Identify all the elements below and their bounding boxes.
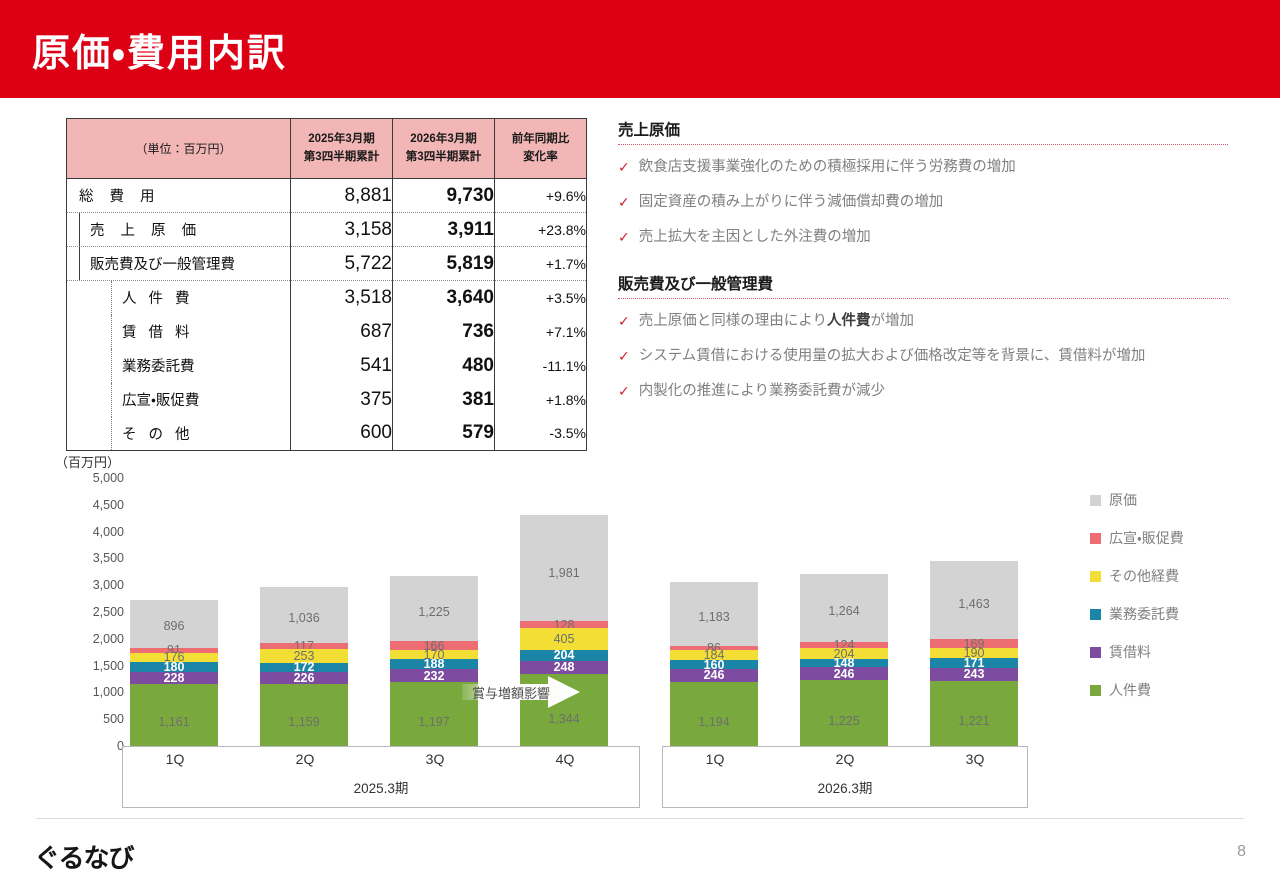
- bullet-text: 固定資産の積み上がりに伴う減価償却費の増加: [639, 192, 944, 213]
- x-axis-group-label: 2025.3期: [123, 777, 639, 797]
- table-row: 賃 借 料 687 736 +7.1%: [67, 315, 587, 349]
- table-row: 業務委託費 541 480 -11.1%: [67, 349, 587, 383]
- row-prev-value: 8,881: [291, 179, 393, 213]
- legend-swatch-icon: [1090, 647, 1101, 658]
- commentary-section-sga: 販売費及び一般管理費 ✓ 売上原価と同様の理由により人件費が増加 ✓ システム賃…: [618, 272, 1228, 402]
- bar-segment: 1,161: [130, 684, 218, 746]
- bullet-text: 飲食店支援事業強化のための積極採用に伴う労務費の増加: [639, 157, 1016, 178]
- legend-swatch-icon: [1090, 533, 1101, 544]
- bullet-text: 売上原価と同様の理由により人件費が増加: [639, 311, 914, 332]
- row-yoy-value: +23.8%: [495, 213, 587, 247]
- bar-column: 1,4631691901712431,221: [930, 561, 1018, 746]
- commentary-bullet: ✓ 売上原価と同様の理由により人件費が増加: [618, 311, 1228, 332]
- row-yoy-value: +3.5%: [495, 281, 587, 315]
- section-heading: 売上原価: [618, 118, 1228, 140]
- column-header-prev-year-line1: 2025年3月期: [291, 131, 392, 149]
- legend-item: 業務委託費: [1090, 604, 1184, 624]
- legend-item: 人件費: [1090, 680, 1184, 700]
- row-label: 販売費及び一般管理費: [80, 253, 235, 274]
- bar-column: 1,9811284052042481,344: [520, 515, 608, 746]
- section-divider: [618, 144, 1228, 145]
- bar-value-label: 1,981: [520, 567, 608, 580]
- section-divider: [618, 298, 1228, 299]
- row-yoy-value: +9.6%: [495, 179, 587, 213]
- bar-value-label: 1,197: [390, 716, 478, 729]
- annotation-bonus-impact: 賞与増額影響: [462, 675, 580, 709]
- table-row: 販売費及び一般管理費 5,722 5,819 +1.7%: [67, 247, 587, 281]
- bar-column: 1,2251661701882321,197: [390, 576, 478, 746]
- table-unit-label: （単位：百万円）: [67, 119, 291, 179]
- stacked-bar-chart: （百万円） 5,0004,5004,0003,5003,0002,5002,00…: [0, 440, 1280, 790]
- legend-label: 原価: [1109, 490, 1137, 510]
- x-axis-tick-label: 3Q: [931, 751, 1019, 767]
- check-icon: ✓: [618, 227, 630, 248]
- y-axis-tick: 5,000: [52, 471, 124, 485]
- chart-unit-label: （百万円）: [55, 452, 120, 471]
- x-axis-tick-label: 2Q: [261, 751, 349, 767]
- legend-label: 業務委託費: [1109, 604, 1179, 624]
- bar-value-label: 1,225: [800, 715, 888, 728]
- cost-breakdown-table: （単位：百万円） 2025年3月期 第3四半期累計 2026年3月期 第3四半期…: [66, 118, 587, 451]
- table-row: 総 費 用 8,881 9,730 +9.6%: [67, 179, 587, 213]
- commentary-bullet: ✓ 固定資産の積み上がりに伴う減価償却費の増加: [618, 192, 1228, 213]
- row-label: 総 費 用: [67, 185, 161, 206]
- bar-column: 1,0361172531722261,159: [260, 587, 348, 746]
- bar-segment: 1,159: [260, 684, 348, 746]
- legend-label: 広宣・販促費: [1109, 528, 1184, 548]
- cost-breakdown-table-wrapper: （単位：百万円） 2025年3月期 第3四半期累計 2026年3月期 第3四半期…: [66, 118, 586, 451]
- bar-segment: 226: [260, 672, 348, 684]
- legend-swatch-icon: [1090, 495, 1101, 506]
- table-row: 人 件 費 3,518 3,640 +3.5%: [67, 281, 587, 315]
- legend-label: 人件費: [1109, 680, 1151, 700]
- bar-segment: 243: [930, 668, 1018, 681]
- column-header-yoy-line1: 前年同期比: [495, 131, 586, 149]
- bar-value-label: 243: [930, 668, 1018, 681]
- bar-segment: 1,225: [390, 576, 478, 642]
- table-body: 総 費 用 8,881 9,730 +9.6% 売 上 原 価 3,158 3,…: [67, 179, 587, 451]
- x-axis-tick-label: 1Q: [131, 751, 219, 767]
- table-header: （単位：百万円） 2025年3月期 第3四半期累計 2026年3月期 第3四半期…: [67, 119, 587, 179]
- y-axis-tick: 2,500: [52, 605, 124, 619]
- commentary-bullet: ✓ 売上拡大を主因とした外注費の増加: [618, 227, 1228, 248]
- bar-value-label: 1,161: [130, 716, 218, 729]
- bar-value-label: 228: [130, 672, 218, 685]
- y-axis-tick: 4,000: [52, 525, 124, 539]
- table-row: 売 上 原 価 3,158 3,911 +23.8%: [67, 213, 587, 247]
- chart-y-axis: 5,0004,5004,0003,5003,0002,5002,0001,500…: [52, 478, 124, 746]
- bar-column: 1,183861841602461,194: [670, 582, 758, 746]
- row-prev-value: 375: [291, 383, 393, 417]
- footer-divider: [36, 818, 1244, 819]
- row-prev-value: 541: [291, 349, 393, 383]
- row-curr-value: 9,730: [393, 179, 495, 213]
- row-label: 売 上 原 価: [80, 219, 202, 240]
- legend-item: 広宣・販促費: [1090, 528, 1184, 548]
- commentary-bullet: ✓ 内製化の推進により業務委託費が減少: [618, 381, 1228, 402]
- section-heading: 販売費及び一般管理費: [618, 272, 1228, 294]
- check-icon: ✓: [618, 311, 630, 332]
- row-prev-value: 5,722: [291, 247, 393, 281]
- bar-value-label: 246: [800, 668, 888, 681]
- table-row: 広宣・販促費 375 381 +1.8%: [67, 383, 587, 417]
- legend-item: その他経費: [1090, 566, 1184, 586]
- page-title: 原価・費用内訳: [32, 22, 287, 77]
- bar-value-label: 896: [130, 620, 218, 633]
- row-yoy-value: +1.7%: [495, 247, 587, 281]
- commentary-panel: 売上原価 ✓ 飲食店支援事業強化のための積極採用に伴う労務費の増加 ✓ 固定資産…: [618, 118, 1228, 416]
- bar-value-label: 248: [520, 661, 608, 674]
- bullet-text: 売上拡大を主因とした外注費の増加: [639, 227, 871, 248]
- x-axis-tick-label: 2Q: [801, 751, 889, 767]
- x-axis-tick-label: 3Q: [391, 751, 479, 767]
- commentary-bullet: ✓ システム賃借における使用量の拡大および価格改定等を背景に、賃借料が増加: [618, 346, 1228, 367]
- legend-swatch-icon: [1090, 685, 1101, 696]
- bar-segment: 1,194: [670, 682, 758, 746]
- legend-item: 原価: [1090, 490, 1184, 510]
- x-axis-tick-label: 1Q: [671, 751, 759, 767]
- row-label: 業務委託費: [112, 355, 195, 376]
- bar-segment: 148: [800, 659, 888, 667]
- bar-value-label: 1,344: [520, 713, 608, 726]
- row-curr-value: 3,640: [393, 281, 495, 315]
- row-yoy-value: +1.8%: [495, 383, 587, 417]
- row-label-cell: 総 費 用: [67, 179, 291, 213]
- row-label-cell: 業務委託費: [67, 349, 291, 383]
- bar-value-label: 246: [670, 669, 758, 682]
- bar-value-label: 1,194: [670, 716, 758, 729]
- y-axis-tick: 500: [52, 712, 124, 726]
- bar-value-label: 1,264: [800, 605, 888, 618]
- row-label-cell: 広宣・販促費: [67, 383, 291, 417]
- row-curr-value: 480: [393, 349, 495, 383]
- bar-value-label: 1,463: [930, 598, 1018, 611]
- y-axis-tick: 3,000: [52, 578, 124, 592]
- legend-swatch-icon: [1090, 571, 1101, 582]
- bar-segment: 246: [670, 669, 758, 682]
- y-axis-tick: 4,500: [52, 498, 124, 512]
- bar-value-label: 1,225: [390, 606, 478, 619]
- table-unit-text: （単位：百万円）: [125, 140, 231, 157]
- x-axis-group: 1Q2Q3Q4Q2025.3期: [122, 746, 640, 808]
- column-header-curr-year-line1: 2026年3月期: [393, 131, 494, 149]
- commentary-section-cogs: 売上原価 ✓ 飲食店支援事業強化のための積極採用に伴う労務費の増加 ✓ 固定資産…: [618, 118, 1228, 248]
- bar-segment: 248: [520, 661, 608, 674]
- bar-segment: 188: [390, 659, 478, 669]
- row-label-cell: 販売費及び一般管理費: [67, 247, 291, 281]
- bar-column: 896911761802281,161: [130, 600, 218, 746]
- check-icon: ✓: [618, 346, 630, 367]
- annotation-text: 賞与増額影響: [468, 683, 554, 702]
- check-icon: ✓: [618, 381, 630, 402]
- row-prev-value: 3,518: [291, 281, 393, 315]
- check-icon: ✓: [618, 192, 630, 213]
- y-axis-tick: 0: [52, 739, 124, 753]
- company-logo: ぐるなび: [34, 838, 133, 875]
- commentary-bullet: ✓ 飲食店支援事業強化のための積極採用に伴う労務費の増加: [618, 157, 1228, 178]
- row-curr-value: 3,911: [393, 213, 495, 247]
- bar-segment: 228: [130, 672, 218, 684]
- bar-segment: 1,225: [800, 680, 888, 746]
- x-axis-group-label: 2026.3期: [663, 777, 1027, 797]
- title-banner: 原価・費用内訳: [0, 0, 1280, 98]
- bullet-text: システム賃借における使用量の拡大および価格改定等を背景に、賃借料が増加: [639, 346, 1146, 367]
- row-label-cell: 売 上 原 価: [67, 213, 291, 247]
- legend-label: その他経費: [1109, 566, 1179, 586]
- legend-item: 賃借料: [1090, 642, 1184, 662]
- bar-value-label: 1,221: [930, 715, 1018, 728]
- page-number: 8: [1237, 843, 1246, 861]
- bar-segment: 1,036: [260, 587, 348, 643]
- column-header-yoy: 前年同期比 変化率: [495, 119, 587, 179]
- legend-label: 賃借料: [1109, 642, 1151, 662]
- column-header-prev-year-line2: 第3四半期累計: [291, 149, 392, 167]
- bar-segment: 1,221: [930, 681, 1018, 746]
- y-axis-tick: 1,000: [52, 685, 124, 699]
- x-axis-group: 1Q2Q3Q2026.3期: [662, 746, 1028, 808]
- y-axis-tick: 2,000: [52, 632, 124, 646]
- bar-segment: 204: [520, 650, 608, 661]
- row-curr-value: 736: [393, 315, 495, 349]
- row-label: 賃 借 料: [112, 321, 194, 342]
- bar-segment: 1,183: [670, 582, 758, 645]
- row-label: 人 件 費: [112, 287, 194, 308]
- row-prev-value: 687: [291, 315, 393, 349]
- row-prev-value: 3,158: [291, 213, 393, 247]
- row-curr-value: 5,819: [393, 247, 495, 281]
- column-header-prev-year: 2025年3月期 第3四半期累計: [291, 119, 393, 179]
- bar-segment: 1,981: [520, 515, 608, 621]
- bar-value-label: 1,159: [260, 716, 348, 729]
- row-label: 広宣・販促費: [112, 389, 199, 410]
- bullet-text: 内製化の推進により業務委託費が減少: [639, 381, 885, 402]
- column-header-yoy-line2: 変化率: [495, 149, 586, 167]
- legend-swatch-icon: [1090, 609, 1101, 620]
- bar-segment: 246: [800, 667, 888, 680]
- bar-segment: 896: [130, 600, 218, 648]
- row-curr-value: 381: [393, 383, 495, 417]
- chart-x-axis: 1Q2Q3Q4Q2025.3期1Q2Q3Q2026.3期: [122, 746, 1028, 808]
- bar-segment: 128: [520, 621, 608, 628]
- bar-segment: 405: [520, 628, 608, 650]
- bar-segment: 1,463: [930, 561, 1018, 639]
- bar-segment: 1,264: [800, 574, 888, 642]
- column-header-curr-year: 2026年3月期 第3四半期累計: [393, 119, 495, 179]
- row-yoy-value: -11.1%: [495, 349, 587, 383]
- bar-value-label: 405: [520, 633, 608, 646]
- y-axis-tick: 1,500: [52, 659, 124, 673]
- x-axis-tick-label: 4Q: [521, 751, 609, 767]
- bar-value-label: 226: [260, 672, 348, 685]
- chart-legend: 原価広宣・販促費その他経費業務委託費賃借料人件費: [1090, 490, 1184, 718]
- bar-value-label: 1,183: [670, 611, 758, 624]
- column-header-curr-year-line2: 第3四半期累計: [393, 149, 494, 167]
- bar-value-label: 1,036: [260, 612, 348, 625]
- bar-column: 1,2641242041482461,225: [800, 574, 888, 746]
- row-label-cell: 人 件 費: [67, 281, 291, 315]
- slide: 原価・費用内訳 （単位：百万円） 2025年3月期 第3四半期累計 2026年3…: [0, 0, 1280, 886]
- check-icon: ✓: [618, 157, 630, 178]
- row-yoy-value: +7.1%: [495, 315, 587, 349]
- row-label-cell: 賃 借 料: [67, 315, 291, 349]
- y-axis-tick: 3,500: [52, 551, 124, 565]
